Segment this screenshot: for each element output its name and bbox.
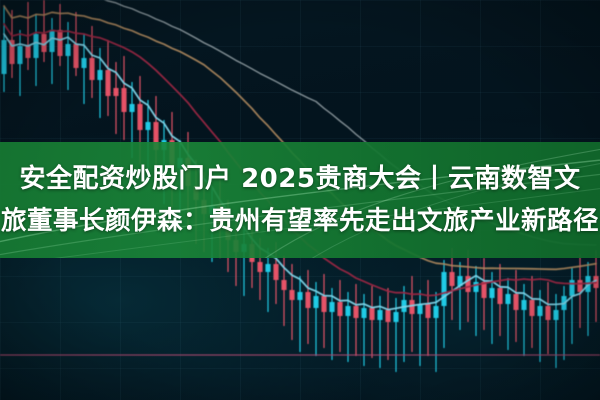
screenshot-root: 安全配资炒股门户 2025贵商大会丨云南数智文 旅董事长颜伊森：贵州有望率先走出… (0, 0, 600, 400)
banner-swoosh-decor (0, 142, 600, 258)
headline-banner (0, 142, 600, 258)
